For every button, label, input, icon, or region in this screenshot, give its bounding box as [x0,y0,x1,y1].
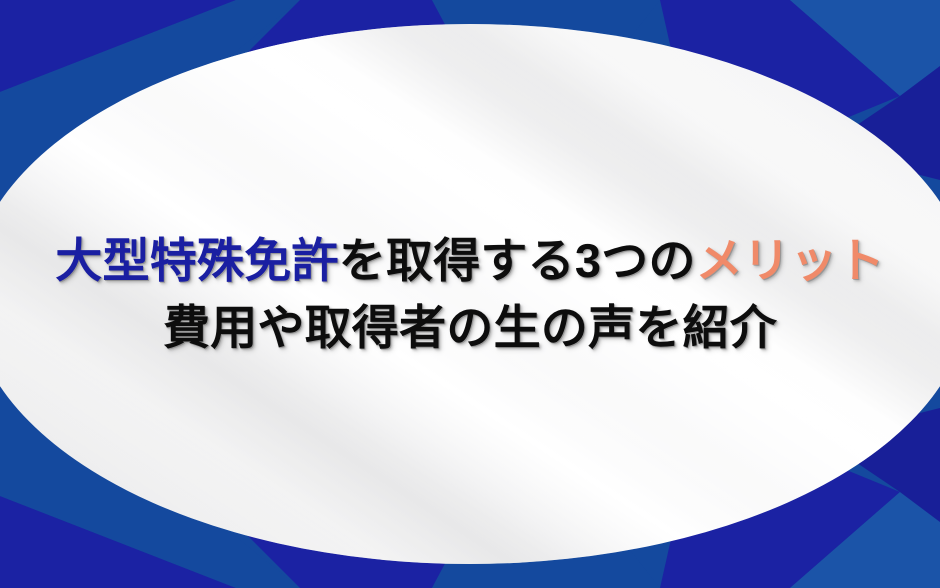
background-graphic [0,0,940,588]
thumbnail-canvas: 大型特殊免許を取得する3つのメリット 費用や取得者の生の声を紹介 [0,0,940,588]
